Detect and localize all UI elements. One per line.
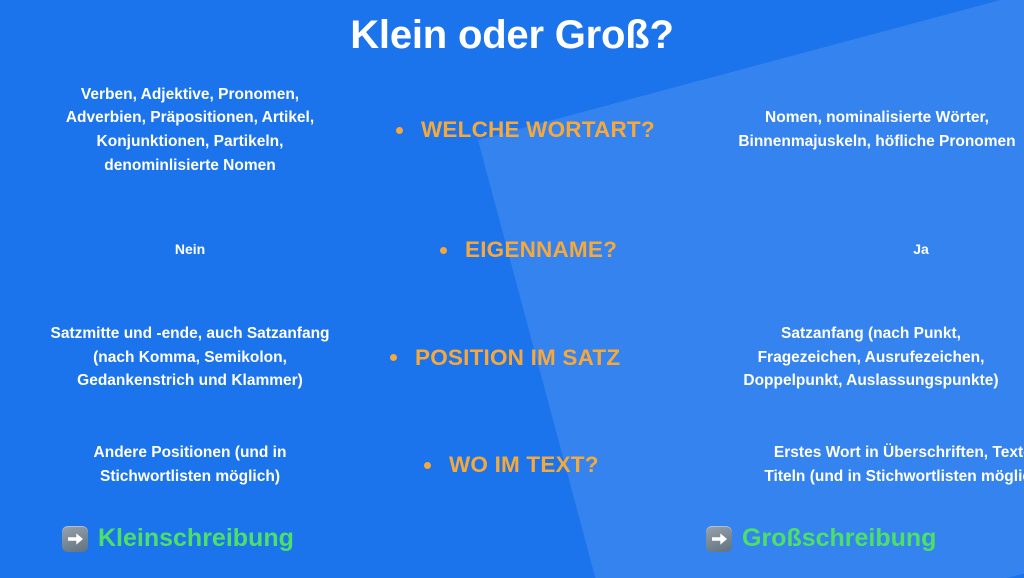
detail-line: (nach Komma, Semikolon, [8, 346, 372, 370]
detail-line: Binnenmajuskeln, höfliche Pronomen [714, 130, 1024, 154]
detail-line: Nomen, nominalisierte Wörter, [714, 106, 1024, 130]
question-label: POSITION IM SATZ [415, 345, 620, 371]
conclusion-grossschreibung: Großschreibung [706, 524, 936, 553]
row-1-left-detail: Verben, Adjektive, Pronomen, Adverbien, … [0, 83, 380, 177]
answer-no-label: Nein [8, 239, 372, 260]
row-1-question: WELCHE WORTART? [380, 117, 714, 143]
question-label: WELCHE WORTART? [421, 117, 655, 143]
detail-line: Adverbien, Präpositionen, Artikel, [8, 106, 372, 130]
conclusion-kleinschreibung: Kleinschreibung [62, 524, 294, 553]
row-2-question: EIGENNAME? [380, 237, 758, 263]
decision-row: Satzmitte und -ende, auch Satzanfang (na… [0, 305, 1024, 410]
decision-row: Nein EIGENNAME? Ja [0, 210, 1024, 290]
row-2-left-detail: Nein [0, 239, 380, 260]
row-1-right-detail: Nomen, nominalisierte Wörter, Binnenmaju… [714, 106, 1024, 153]
bullet-icon [396, 127, 403, 134]
row-3-right-detail: Satzanfang (nach Punkt, Fragezeichen, Au… [708, 322, 1024, 393]
detail-line: Satzanfang (nach Punkt, [708, 322, 1024, 346]
page-title: Klein oder Groß? [0, 13, 1024, 58]
detail-line: Satzmitte und -ende, auch Satzanfang [8, 322, 372, 346]
detail-line: Konjunktionen, Partikeln, [8, 130, 372, 154]
conclusion-label: Kleinschreibung [98, 524, 294, 553]
detail-line: Doppelpunkt, Auslassungspunkte) [708, 369, 1024, 393]
detail-line: Fragezeichen, Ausrufezeichen, [708, 346, 1024, 370]
detail-line: Stichwortlisten möglich) [8, 465, 372, 489]
row-4-question: WO IM TEXT? [380, 452, 742, 478]
question-label: WO IM TEXT? [449, 452, 599, 478]
bullet-icon [424, 462, 431, 469]
question-label: EIGENNAME? [465, 237, 617, 263]
row-4-left-detail: Andere Positionen (und in Stichwortliste… [0, 441, 380, 488]
bullet-icon [440, 247, 447, 254]
infographic-canvas: Klein oder Groß? Verben, Adjektive, Pron… [0, 0, 1024, 578]
detail-line: Verben, Adjektive, Pronomen, [8, 83, 372, 107]
right-arrow-icon [706, 526, 732, 552]
detail-line: Andere Positionen (und in [8, 441, 372, 465]
detail-line: denominlisierte Nomen [8, 154, 372, 178]
answer-yes-label: Ja [913, 241, 929, 257]
conclusion-label: Großschreibung [742, 524, 936, 553]
bullet-icon [390, 354, 397, 361]
decision-grid: Verben, Adjektive, Pronomen, Adverbien, … [0, 60, 1024, 515]
detail-line: Erstes Wort in Überschriften, Texte, [742, 441, 1024, 465]
conclusion-row: Kleinschreibung Großschreibung [0, 524, 1024, 572]
row-3-question: POSITION IM SATZ [380, 345, 708, 371]
right-arrow-icon [62, 526, 88, 552]
decision-row: Verben, Adjektive, Pronomen, Adverbien, … [0, 70, 1024, 190]
detail-line: Gedankenstrich und Klammer) [8, 369, 372, 393]
row-4-right-detail: Erstes Wort in Überschriften, Texte, Tit… [742, 441, 1024, 488]
detail-line: Titeln (und in Stichwortlisten möglich) [742, 465, 1024, 489]
row-3-left-detail: Satzmitte und -ende, auch Satzanfang (na… [0, 322, 380, 393]
row-2-right-detail: Ja [758, 238, 1024, 262]
decision-row: Andere Positionen (und in Stichwortliste… [0, 425, 1024, 505]
